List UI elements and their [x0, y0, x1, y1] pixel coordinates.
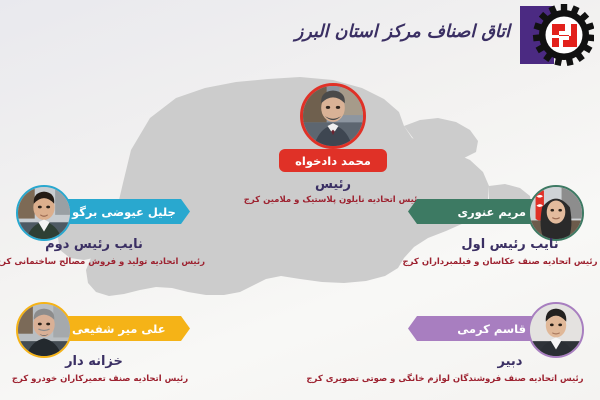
portrait-treasurer [16, 302, 72, 358]
role-vice-second: نایب رئیس دوم [14, 237, 174, 252]
name-ribbon-vice-first: مریم عنوری [408, 199, 536, 224]
role-president: رئیس [279, 177, 387, 192]
header: اتاق اصناف مرکز استان البرز [295, 4, 594, 66]
portrait-vice-second [16, 185, 72, 241]
role-treasurer: خزانه دار [14, 354, 174, 369]
person-card-secretary[interactable]: قاسم کرمی دبیر رئیس اتحادیه صنف فروشندگا… [400, 302, 600, 400]
gear-logo [518, 4, 594, 66]
page-title: اتاق اصناف مرکز استان البرز [295, 22, 510, 48]
person-card-vice-second[interactable]: جلیل عیوضی برگو نایب رئیس دوم رئیس اتحاد… [0, 185, 200, 295]
description-vice-second: رئیس اتحادیه تولید و فروش مصالح ساختمانی… [0, 257, 210, 267]
name-ribbon-secretary: قاسم کرمی [408, 316, 536, 341]
portrait-vice-first [528, 185, 584, 241]
person-card-treasurer[interactable]: علی میر شفیعی خزانه دار رئیس اتحادیه صنف… [0, 302, 200, 400]
name-ribbon-treasurer: علی میر شفیعی [62, 316, 190, 341]
description-vice-first: رئیس اتحادیه صنف عکاسان و فیلمبرداران کر… [390, 257, 600, 267]
portrait-president [300, 83, 366, 149]
name-badge-president: محمد دادخواه [279, 149, 387, 172]
role-vice-first: نایب رئیس اول [430, 237, 590, 252]
description-secretary: رئیس اتحادیه صنف فروشندگان لوازم خانگی و… [295, 374, 595, 384]
description-treasurer: رئیس اتحادیه صنف تعمیرکاران خودرو کرج [0, 374, 210, 384]
infographic-canvas: اتاق اصناف مرکز استان البرز محمد دادخواه… [0, 0, 600, 400]
name-ribbon-vice-second: جلیل عیوضی برگو [62, 199, 190, 224]
role-secretary: دبیر [430, 354, 590, 369]
person-card-vice-first[interactable]: مریم عنوری نایب رئیس اول رئیس اتحادیه صن… [400, 185, 600, 295]
portrait-secretary [528, 302, 584, 358]
